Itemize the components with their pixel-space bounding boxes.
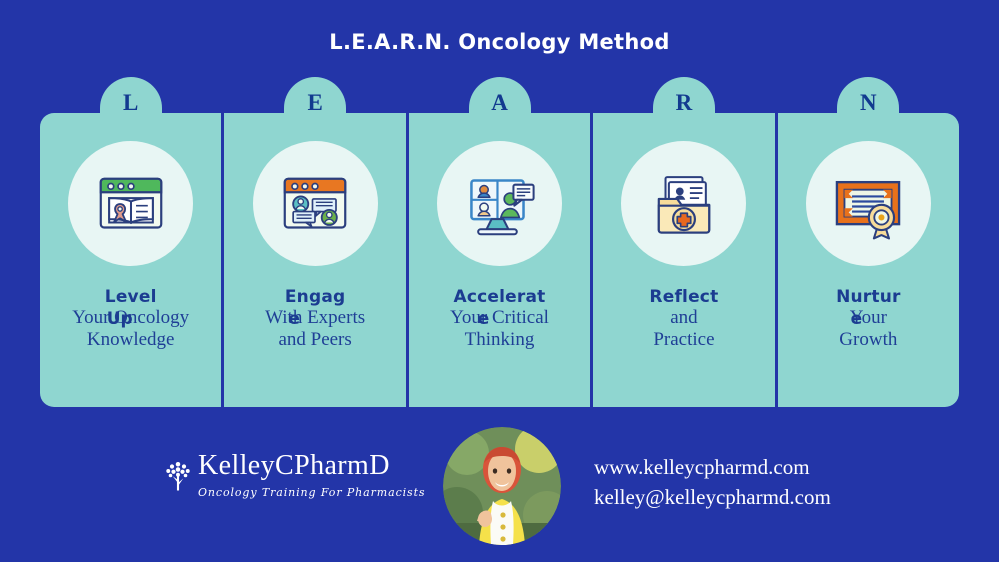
letter-tab-label: N — [860, 91, 877, 117]
column-line3-r: Practice — [593, 329, 774, 351]
brand-tagline: Oncology Training For Pharmacists — [198, 486, 425, 499]
column-lead-a: Accelerat — [409, 287, 590, 307]
learn-column-a[interactable]: A — [406, 113, 590, 407]
column-lead-e: Engag — [224, 287, 405, 307]
learn-column-n[interactable]: N Nurtur Your — [775, 113, 959, 407]
contact-info: www.kelleycpharmd.com kelley@kelleycphar… — [594, 452, 831, 513]
letter-tab-label: A — [491, 91, 508, 117]
learn-method-card-strip: L Level — [40, 113, 959, 407]
letter-tab-e: E — [284, 77, 346, 117]
page-title: L.E.A.R.N. Oncology Method — [0, 30, 999, 54]
column-line3-a: Thinking — [409, 329, 590, 351]
icon-disc-a — [437, 141, 562, 266]
video-conference-monitor-icon — [458, 162, 542, 246]
column-line2-a: Your Critical — [409, 307, 590, 329]
certificate-award-icon — [826, 162, 910, 246]
medical-records-folder-icon — [642, 162, 726, 246]
column-line3-n: Growth — [778, 329, 959, 351]
footer: KelleyCPharmD Oncology Training For Phar… — [0, 430, 999, 550]
letter-tab-l: L — [100, 77, 162, 117]
learn-column-r[interactable]: R Reflect and Practice — [590, 113, 774, 407]
letter-tab-r: R — [653, 77, 715, 117]
column-text-a: Accelerat Your Critical Thinking e — [409, 287, 590, 352]
icon-disc-e — [253, 141, 378, 266]
column-line3-e: and Peers — [224, 329, 405, 351]
column-line3-l: Knowledge — [40, 329, 221, 351]
learn-column-l[interactable]: L Level — [40, 113, 221, 407]
column-line2-l: Your Oncology — [40, 307, 221, 329]
icon-disc-l — [68, 141, 193, 266]
icon-disc-r — [621, 141, 746, 266]
column-text-r: Reflect and Practice — [593, 287, 774, 352]
column-lead-r: Reflect — [593, 287, 774, 307]
column-lead-l: Level — [40, 287, 221, 307]
letter-tab-label: R — [676, 91, 693, 117]
letter-tab-n: N — [837, 77, 899, 117]
column-line2-e: With Experts — [224, 307, 405, 329]
browser-book-ribbon-icon — [89, 162, 173, 246]
column-text-n: Nurtur Your Growth e — [778, 287, 959, 352]
brand-logo[interactable]: KelleyCPharmD Oncology Training For Phar… — [163, 452, 425, 499]
website-link[interactable]: www.kelleycpharmd.com — [594, 452, 831, 482]
column-lead-n: Nurtur — [778, 287, 959, 307]
tree-burst-icon — [163, 459, 193, 493]
letter-tab-a: A — [469, 77, 531, 117]
column-text-l: Level Your Oncology Knowledge Up — [40, 287, 221, 352]
brand-name: KelleyCPharmD — [198, 452, 425, 480]
headshot-photo — [443, 427, 561, 545]
column-line2-r: and — [593, 307, 774, 329]
browser-chat-users-icon — [273, 162, 357, 246]
email-link[interactable]: kelley@kelleycpharmd.com — [594, 482, 831, 512]
icon-disc-n — [806, 141, 931, 266]
letter-tab-label: L — [123, 91, 138, 117]
column-text-e: Engag With Experts and Peers e — [224, 287, 405, 352]
letter-tab-label: E — [307, 91, 322, 117]
learn-column-e[interactable]: E — [221, 113, 405, 407]
column-line2-n: Your — [778, 307, 959, 329]
